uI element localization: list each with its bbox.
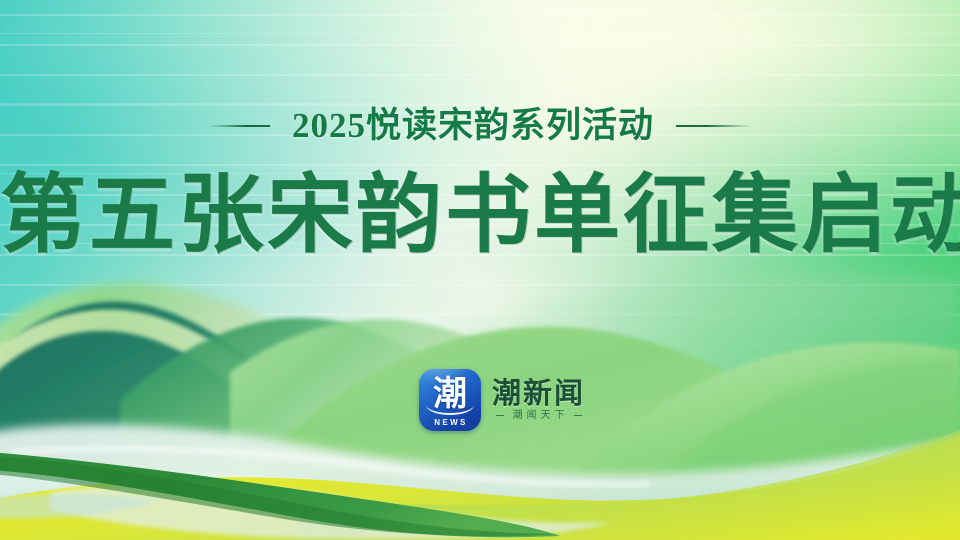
poster-main-title: 第五张宋韵书单征集启动	[0, 170, 960, 260]
logo-text-block: 潮新闻 潮闻天下	[492, 380, 585, 421]
logo-tagline-row: 潮闻天下	[496, 411, 582, 421]
chao-news-logo[interactable]: 潮 NEWS 潮新闻 潮闻天下	[419, 369, 585, 431]
logo-brand-name: 潮新闻	[492, 380, 585, 409]
rule-right-icon	[676, 125, 752, 127]
logo-tagline: 潮闻天下	[509, 411, 569, 421]
tagline-dash-right-icon	[574, 415, 582, 417]
rule-left-icon	[208, 125, 270, 127]
landscape-illustration	[0, 0, 960, 540]
poster-subtitle: 2025悦读宋韵系列活动	[292, 108, 654, 143]
news-label: NEWS	[419, 418, 481, 427]
poster-canvas: 2025悦读宋韵系列活动 第五张宋韵书单征集启动 潮 NEWS 潮新闻 潮闻天下	[0, 0, 960, 540]
subtitle-row: 2025悦读宋韵系列活动	[0, 108, 960, 143]
chao-news-app-icon: 潮 NEWS	[419, 369, 481, 431]
tagline-dash-left-icon	[496, 415, 504, 417]
wave-swoosh-icon	[426, 403, 474, 415]
